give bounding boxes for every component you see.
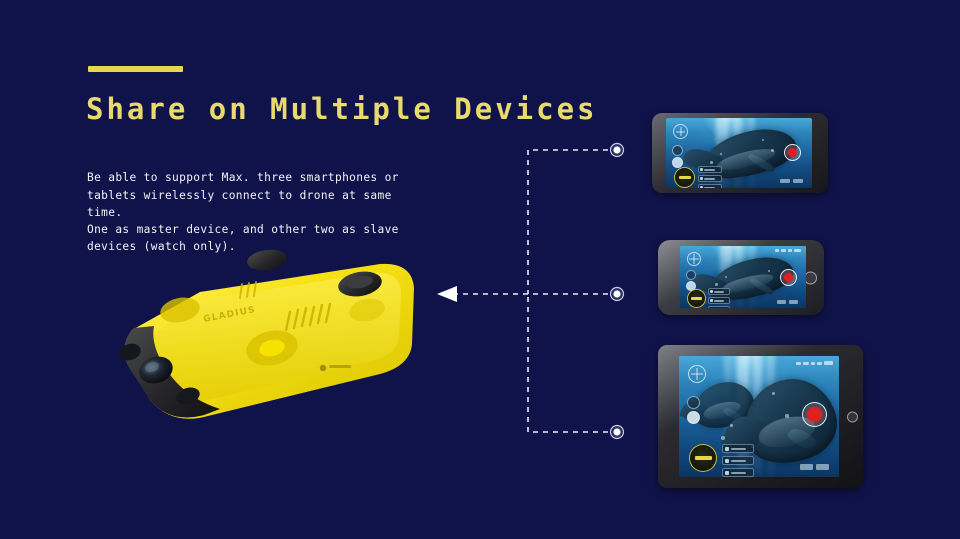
connector-node-top bbox=[611, 144, 624, 157]
depth-gauge bbox=[687, 289, 706, 308]
record-button[interactable] bbox=[802, 402, 827, 427]
device-smartphone-android[interactable] bbox=[652, 113, 828, 193]
setting-pills[interactable] bbox=[722, 444, 754, 477]
hud-overlay[interactable] bbox=[666, 118, 812, 188]
status-bar bbox=[796, 361, 833, 365]
slide-canvas: Share on Multiple Devices Be able to sup… bbox=[0, 0, 960, 539]
dpad-control-icon[interactable] bbox=[687, 252, 701, 266]
connector-node-bottom bbox=[611, 426, 624, 439]
connector-line-bottom bbox=[528, 294, 608, 432]
light-button[interactable] bbox=[687, 411, 700, 424]
page-title: Share on Multiple Devices bbox=[86, 92, 598, 126]
photo-button[interactable] bbox=[686, 270, 696, 280]
drone-thruster-top bbox=[246, 248, 288, 273]
home-button[interactable] bbox=[847, 411, 858, 422]
photo-button[interactable] bbox=[687, 396, 700, 409]
setting-pills[interactable] bbox=[698, 166, 722, 188]
drone-illustration: GLADIUS bbox=[112, 248, 427, 443]
dpad-control-icon[interactable] bbox=[688, 365, 706, 383]
title-accent-bar bbox=[88, 66, 183, 72]
hud-overlay[interactable] bbox=[679, 356, 839, 477]
bottom-right-controls[interactable] bbox=[780, 179, 803, 183]
record-button[interactable] bbox=[784, 144, 801, 161]
connector-nodes bbox=[611, 144, 624, 439]
connector-line-top bbox=[528, 150, 608, 294]
bottom-right-controls[interactable] bbox=[800, 464, 829, 470]
tablet-screen[interactable] bbox=[679, 356, 839, 477]
depth-gauge bbox=[689, 444, 717, 472]
photo-button[interactable] bbox=[672, 145, 683, 156]
phone-screen-iphone[interactable] bbox=[680, 246, 806, 308]
device-smartphone-iphone[interactable] bbox=[658, 240, 824, 315]
phone-screen-android[interactable] bbox=[666, 118, 812, 188]
device-tablet[interactable] bbox=[658, 345, 863, 488]
record-button[interactable] bbox=[780, 269, 797, 286]
depth-gauge bbox=[674, 167, 695, 188]
body-paragraph-1: Be able to support Max. three smartphone… bbox=[87, 171, 399, 219]
underwater-drone: GLADIUS bbox=[112, 248, 427, 443]
bottom-right-controls[interactable] bbox=[777, 300, 798, 304]
setting-pills[interactable] bbox=[708, 288, 730, 308]
hud-overlay[interactable] bbox=[680, 246, 806, 308]
connector-arrow-head bbox=[437, 286, 457, 302]
connector-node-middle bbox=[611, 288, 624, 301]
status-bar bbox=[775, 249, 801, 252]
drone-logo-badge bbox=[320, 365, 326, 371]
dpad-control-icon[interactable] bbox=[673, 124, 688, 139]
